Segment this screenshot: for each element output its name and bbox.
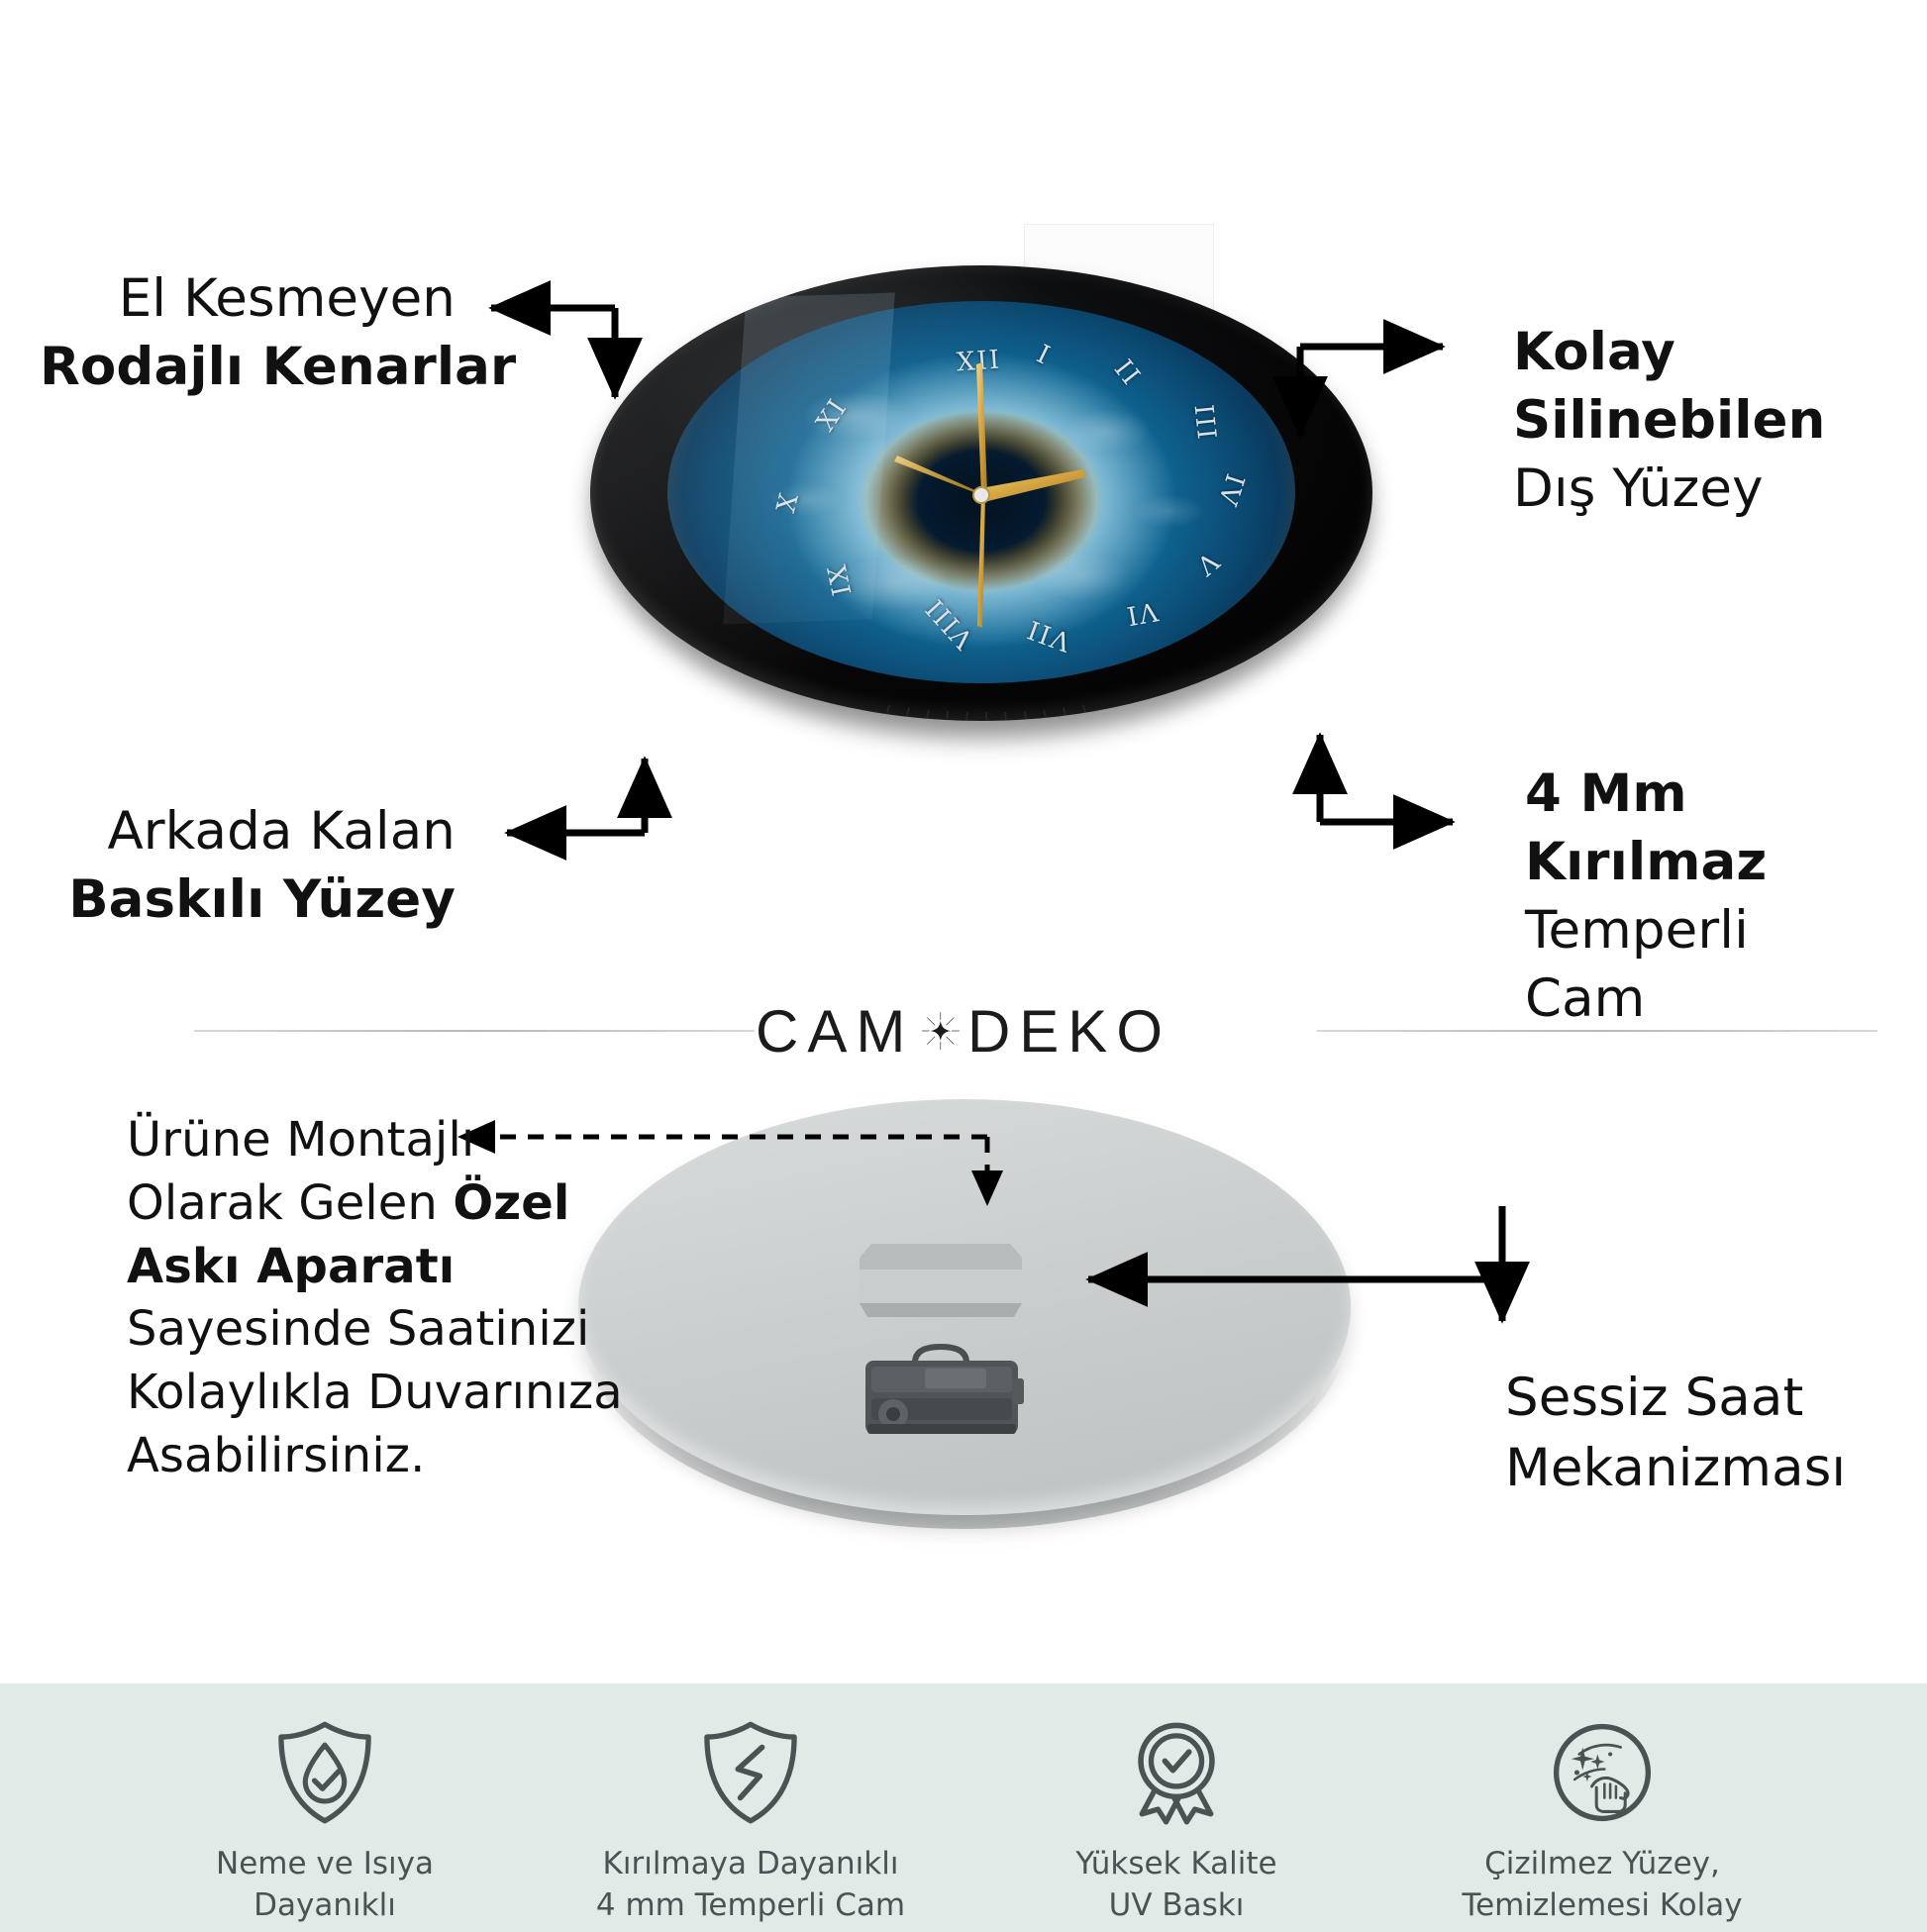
feature-bar: Neme ve Isıya Dayanıklı Kırılmaya Dayanı… (0, 1683, 1927, 1932)
feature-caption-line2: Temizlemesi Kolay (1462, 1885, 1742, 1927)
callout-bottom-left-line6: Asabilirsiniz. (127, 1425, 592, 1488)
callout-top-right-line3: Dış Yüzey (1513, 456, 1927, 524)
brand-name-left: CAM (756, 997, 914, 1066)
feature-caption-line2: Dayanıklı (216, 1885, 434, 1927)
hanger-bracket (842, 1222, 1040, 1331)
sparkle-wipe-hand-icon (1545, 1711, 1660, 1834)
callout-bottom-left: Ürüne Montajlı Olarak Gelen Özel Askı Ap… (127, 1109, 592, 1488)
product-back-view (578, 1099, 1351, 1545)
front-clock-body: XII I II III IV V VI VII VIII IX X XI (590, 265, 1372, 721)
rim-tick-marks (590, 265, 1372, 721)
divider-left (194, 1030, 755, 1032)
feature-caption-line1: Çizilmez Yüzey, (1462, 1844, 1742, 1885)
feature-caption-line2: 4 mm Temperli Cam (596, 1885, 905, 1927)
callout-bottom-left-line3: Askı Aparatı (127, 1236, 592, 1299)
feature-caption-scratch-free: Çizilmez Yüzey, Temizlemesi Kolay (1462, 1844, 1742, 1926)
feature-item-scratch-free: Çizilmez Yüzey, Temizlemesi Kolay (1389, 1683, 1815, 1926)
feature-caption-uv-print: Yüksek Kalite UV Baskı (1075, 1844, 1276, 1926)
shield-crack-bolt-icon (693, 1711, 808, 1834)
callout-bottom-left-line2-regular: Olarak Gelen (127, 1175, 453, 1231)
product-front-view: XII I II III IV V VI VII VIII IX X XI (590, 265, 1372, 761)
callout-top-right-line1: Kolay (1513, 319, 1927, 387)
callout-bottom-left-line1: Ürüne Montajlı (127, 1109, 592, 1172)
feature-list: Neme ve Isıya Dayanıklı Kırılmaya Dayanı… (0, 1683, 1927, 1932)
clock-movement (838, 1327, 1046, 1456)
callout-top-left: El Kesmeyen Rodajlı Kenarlar (40, 265, 456, 402)
callout-bottom-right: Sessiz Saat Mekanizması (1505, 1363, 1921, 1503)
callout-mid-left: Arkada Kalan Baskılı Yüzey (40, 798, 456, 935)
feature-caption-line1: Neme ve Isıya (216, 1844, 434, 1885)
feature-item-shatter-resistant: Kırılmaya Dayanıklı 4 mm Temperli Cam (538, 1683, 963, 1926)
shield-water-drop-check-icon (267, 1711, 382, 1834)
divider-right (1317, 1030, 1877, 1032)
callout-mid-right-line3: Temperli (1525, 897, 1921, 966)
feature-caption-line1: Yüksek Kalite (1075, 1844, 1276, 1885)
callout-bottom-left-line2: Olarak Gelen Özel (127, 1172, 592, 1236)
feature-item-uv-print: Yüksek Kalite UV Baskı (963, 1683, 1389, 1926)
callout-bottom-right-line2: Mekanizması (1505, 1433, 1921, 1503)
callout-bottom-left-line5: Kolaylıkla Duvarınıza (127, 1362, 592, 1425)
callout-top-left-line2: Rodajlı Kenarlar (40, 334, 456, 402)
arrow-mid-left (507, 759, 645, 833)
award-ribbon-check-icon (1119, 1711, 1234, 1834)
callout-top-right: Kolay Silinebilen Dış Yüzey (1513, 319, 1927, 524)
feature-item-moisture-heat: Neme ve Isıya Dayanıklı (112, 1683, 538, 1926)
feature-caption-moisture-heat: Neme ve Isıya Dayanıklı (216, 1844, 434, 1926)
callout-top-right-line2: Silinebilen (1513, 387, 1927, 456)
callout-top-left-line1: El Kesmeyen (40, 265, 456, 334)
feature-caption-shatter-resistant: Kırılmaya Dayanıklı 4 mm Temperli Cam (596, 1844, 905, 1926)
feature-caption-line2: UV Baskı (1075, 1885, 1276, 1927)
callout-bottom-left-line4: Sayesinde Saatinizi (127, 1298, 592, 1362)
feature-caption-line1: Kırılmaya Dayanıklı (596, 1844, 905, 1885)
callout-bottom-left-line2-bold: Özel (453, 1175, 569, 1231)
callout-mid-right-line2: Kırılmaz (1525, 829, 1921, 897)
sparkle-star-icon (920, 988, 962, 1073)
callout-bottom-right-line1: Sessiz Saat (1505, 1363, 1921, 1433)
brand-row: CAM DEKO (0, 972, 1927, 1091)
callout-mid-left-line2: Baskılı Yüzey (40, 866, 456, 935)
callout-mid-right-line1: 4 Mm (1525, 761, 1921, 829)
infographic-canvas: XII I II III IV V VI VII VIII IX X XI (0, 0, 1927, 1932)
callout-mid-left-line1: Arkada Kalan (40, 798, 456, 866)
brand-name-right: DEKO (967, 997, 1171, 1066)
brand-logo: CAM DEKO (756, 972, 1171, 1089)
